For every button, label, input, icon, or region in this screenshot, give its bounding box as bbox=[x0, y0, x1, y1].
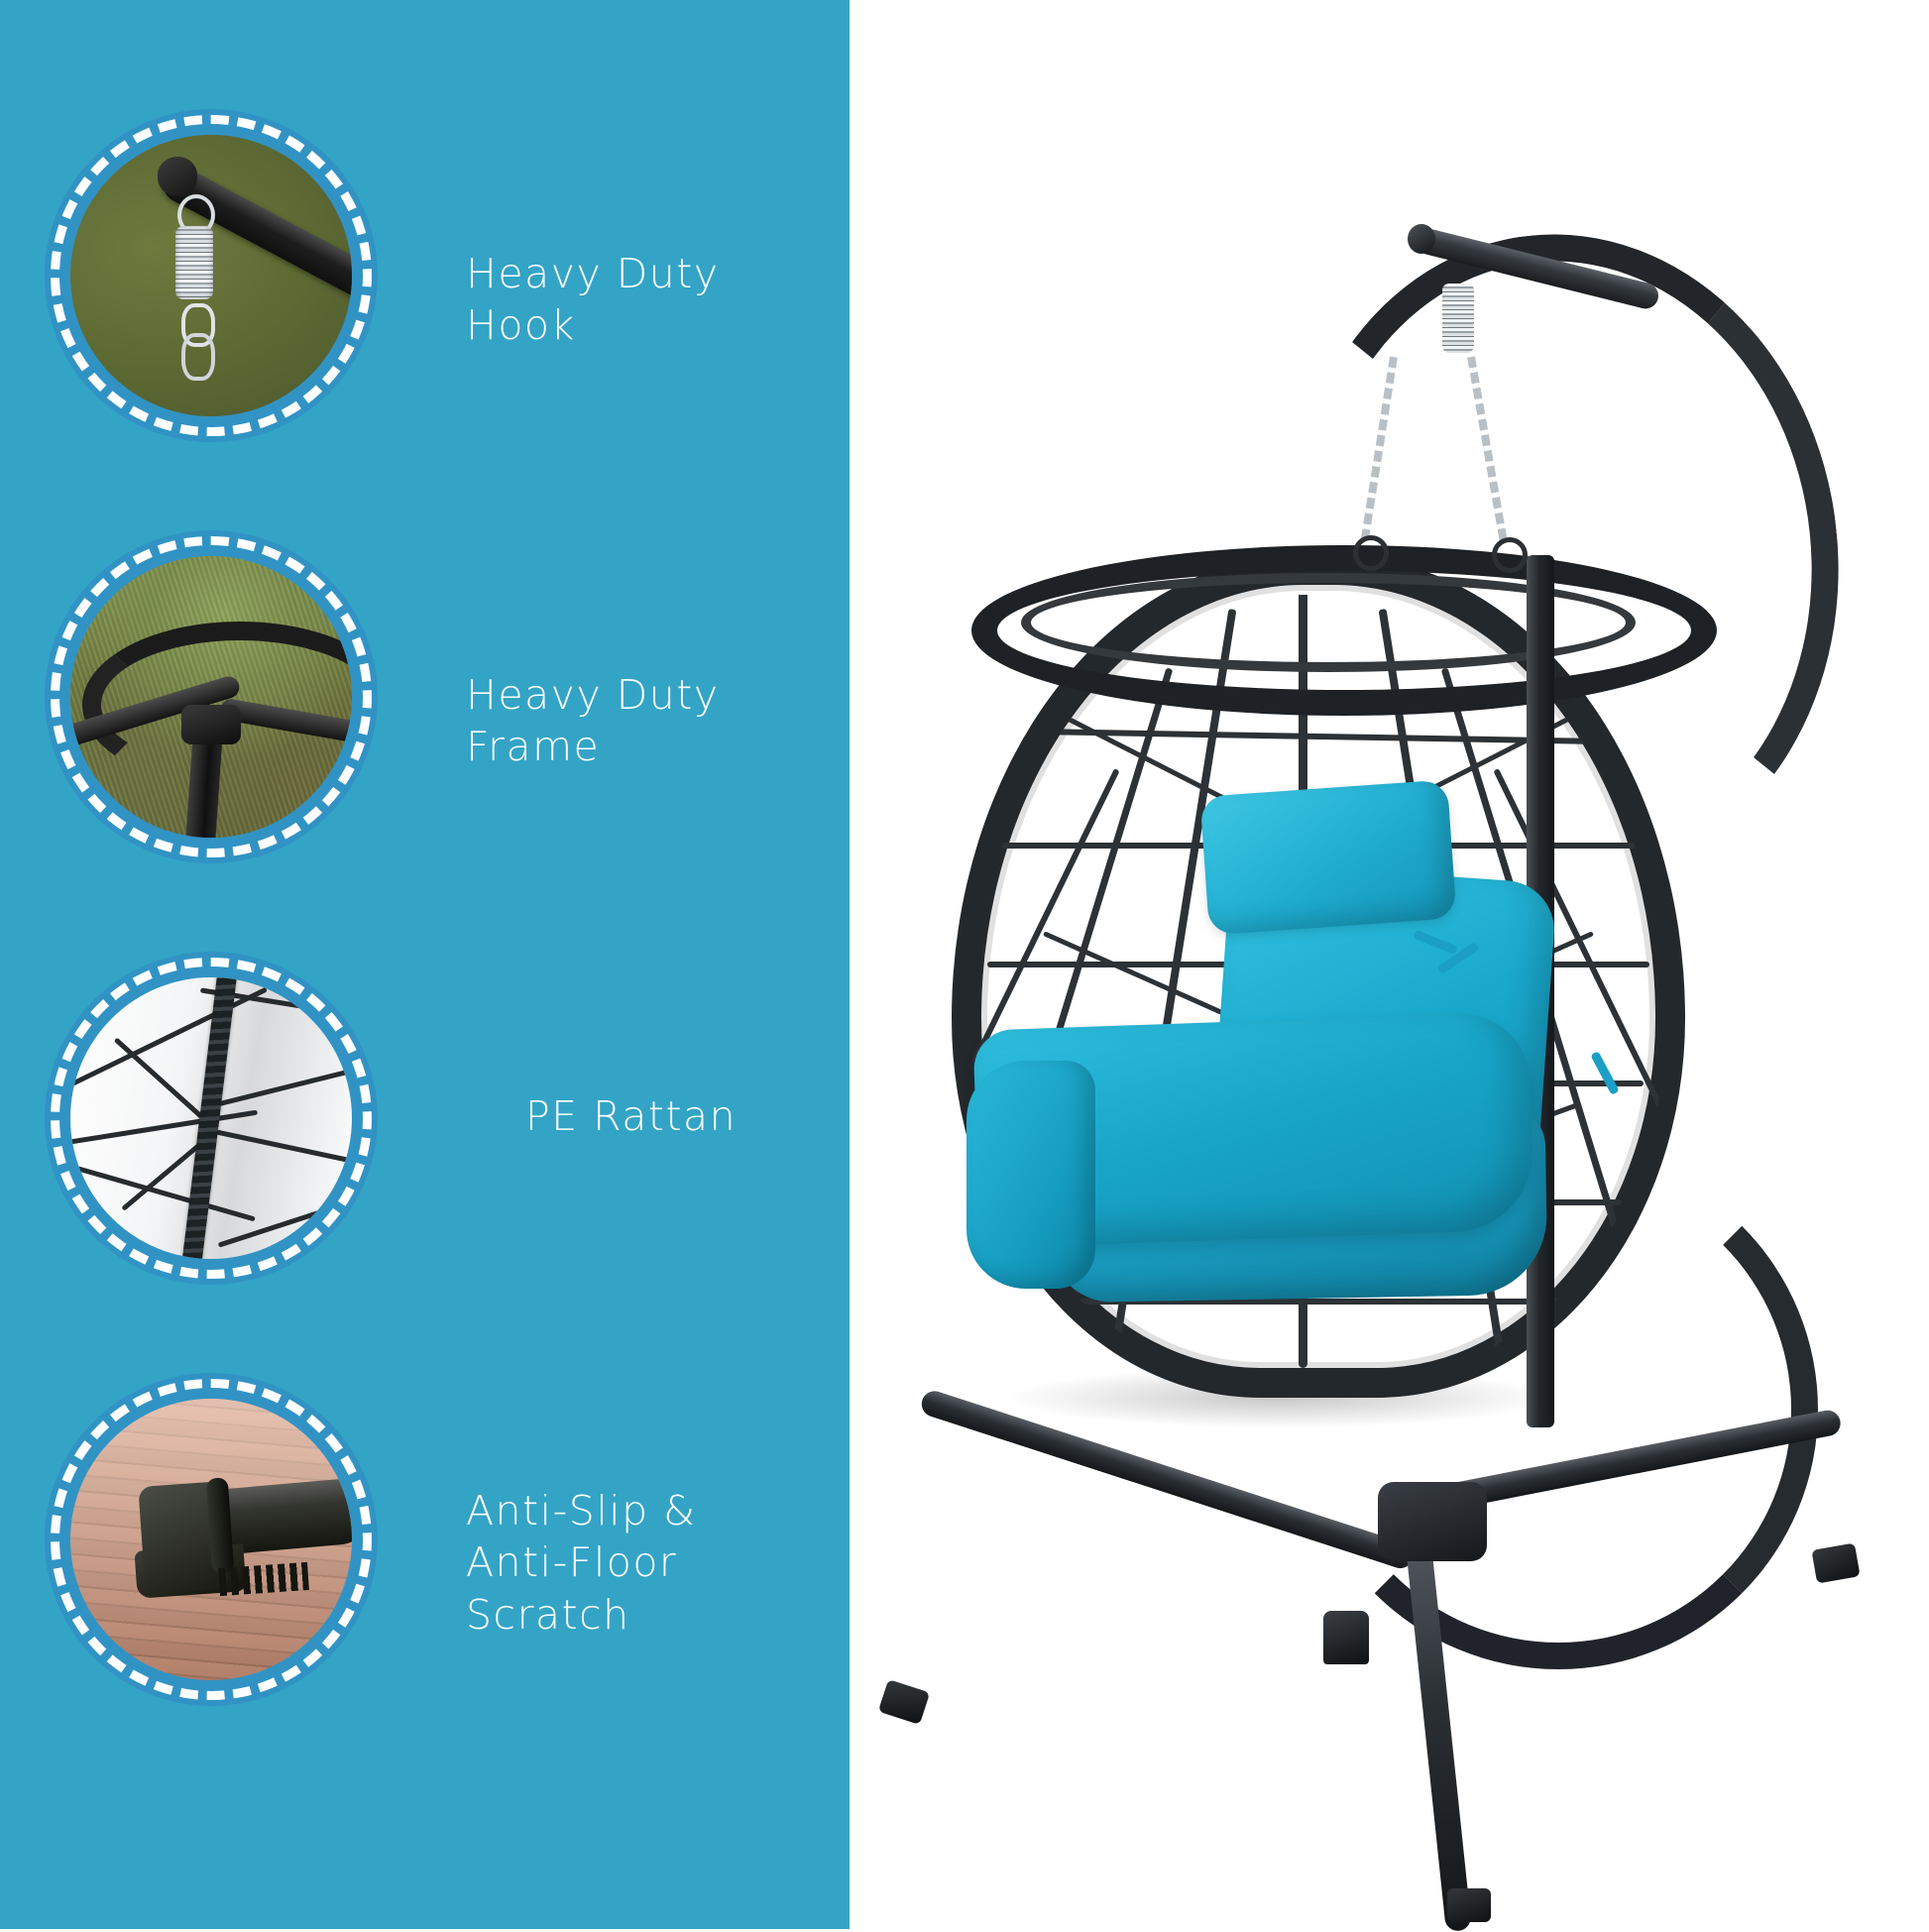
feature-row-anti-slip: Anti-Slip & Anti-Floor Scratch bbox=[0, 1373, 850, 1789]
feature-row-heavy-duty-frame: Heavy Duty Frame bbox=[0, 530, 850, 947]
chain-ring-right bbox=[1492, 537, 1528, 573]
anti-slip-foot-front bbox=[1447, 1888, 1491, 1922]
rattan-photo bbox=[70, 977, 352, 1259]
feature-photo-frame-3 bbox=[45, 952, 378, 1285]
feature-row-heavy-duty-hook: Heavy Duty Hook bbox=[0, 109, 850, 525]
features-panel: Heavy Duty Hook Heavy Duty Frame bbox=[0, 0, 850, 1929]
stand-arm-end-cap bbox=[1408, 224, 1435, 254]
feature-photo-frame-4 bbox=[45, 1373, 378, 1706]
frame-photo bbox=[70, 556, 352, 838]
head-pillow bbox=[1199, 779, 1456, 935]
feature-label-4: Anti-Slip & Anti-Floor Scratch bbox=[466, 1485, 843, 1641]
feature-row-pe-rattan: PE Rattan bbox=[0, 952, 850, 1368]
feature-photo-frame-1 bbox=[45, 109, 378, 442]
feature-label-1: Heavy Duty Hook bbox=[466, 248, 843, 352]
arm-bolster-cushion bbox=[966, 1061, 1095, 1289]
suspension-spring bbox=[1442, 284, 1474, 353]
feature-photo-frame-2 bbox=[45, 530, 378, 863]
anti-slip-photo bbox=[70, 1399, 352, 1680]
infographic-root: Heavy Duty Hook Heavy Duty Frame bbox=[0, 0, 1929, 1929]
feature-label-3: PE Rattan bbox=[525, 1090, 902, 1142]
feature-label-2: Heavy Duty Frame bbox=[466, 669, 843, 773]
tripod-hub bbox=[1378, 1482, 1487, 1561]
hook-photo bbox=[70, 135, 352, 416]
anti-slip-foot-rear bbox=[1323, 1611, 1369, 1664]
chain-ring-left bbox=[1353, 535, 1389, 571]
